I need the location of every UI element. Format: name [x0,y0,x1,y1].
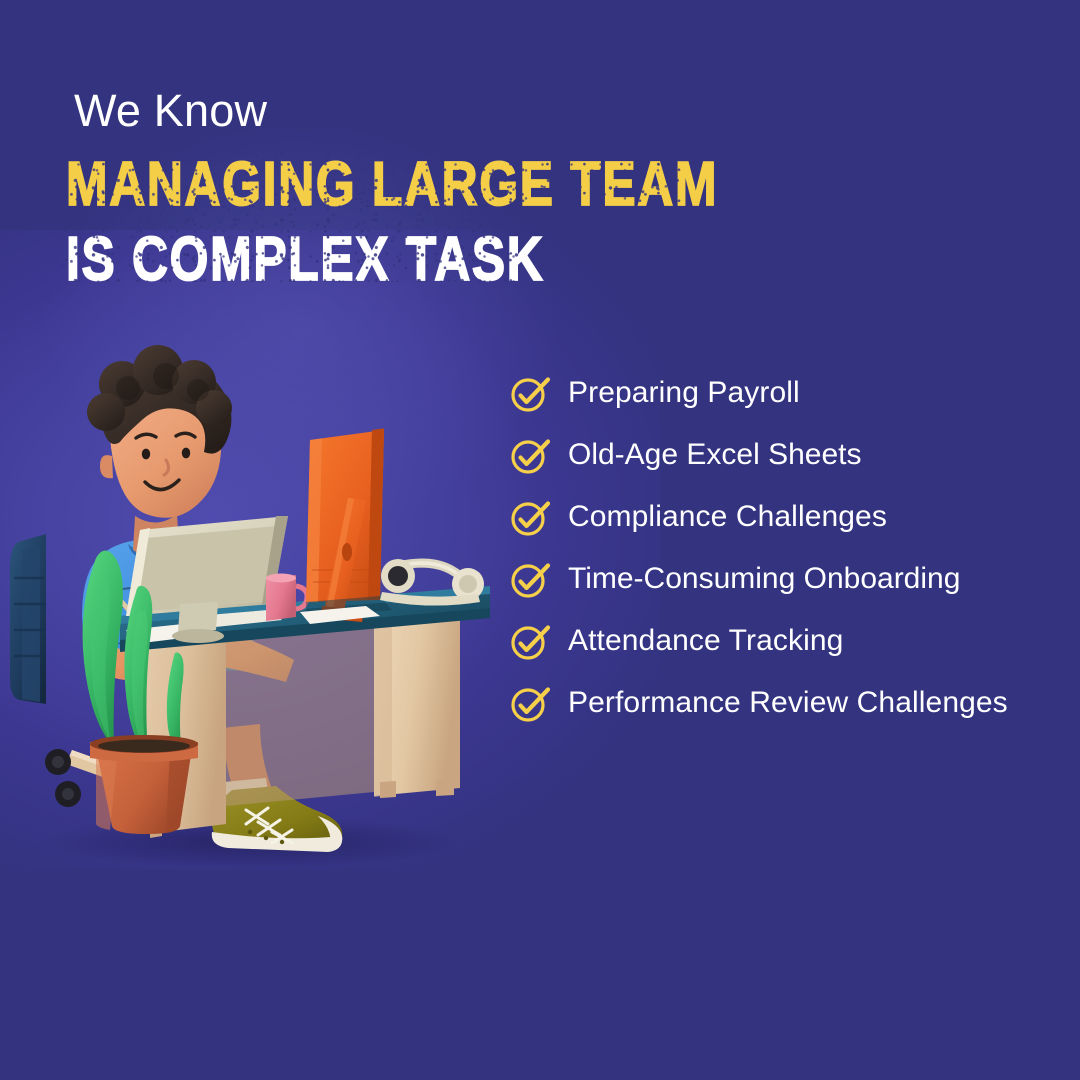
list-item-label: Attendance Tracking [568,626,843,656]
check-circle-icon [508,681,552,725]
list-item[interactable]: Performance Review Challenges [508,672,1068,734]
headline-line2-wrap: MANAGING LARGE TEAM [66,133,681,200]
monitor-stand [178,602,218,632]
headline-block: We Know MANAGING LARGE TEAM IS COMPLEX T… [66,88,766,276]
list-item[interactable]: Old-Age Excel Sheets [508,424,1068,486]
eye-right [182,448,190,459]
list-item[interactable]: Preparing Payroll [508,362,1068,424]
challenges-list: Preparing Payroll Old-Age Excel Sheets C… [508,362,1068,734]
orange-monitor [306,428,392,622]
check-circle-icon [508,495,552,539]
list-item[interactable]: Time-Consuming Onboarding [508,548,1068,610]
headline-kicker: We Know [66,88,766,133]
poster-canvas: We Know MANAGING LARGE TEAM IS COMPLEX T… [0,0,1080,1080]
headphones [380,559,484,606]
list-item-label: Performance Review Challenges [568,688,1008,718]
eye-left [142,449,150,460]
check-circle-icon [508,371,552,415]
person-working-at-desk-illustration [0,330,500,870]
headline-line3-wrap: IS COMPLEX TASK [66,200,517,275]
headline-line3: IS COMPLEX TASK [66,226,544,291]
list-item[interactable]: Compliance Challenges [508,486,1068,548]
check-circle-icon [508,619,552,663]
list-item-label: Old-Age Excel Sheets [568,440,861,470]
check-circle-icon [508,433,552,477]
list-item[interactable]: Attendance Tracking [508,610,1068,672]
list-item-label: Time-Consuming Onboarding [568,564,960,594]
list-item-label: Compliance Challenges [568,502,887,532]
list-item-label: Preparing Payroll [568,378,800,408]
check-circle-icon [508,557,552,601]
